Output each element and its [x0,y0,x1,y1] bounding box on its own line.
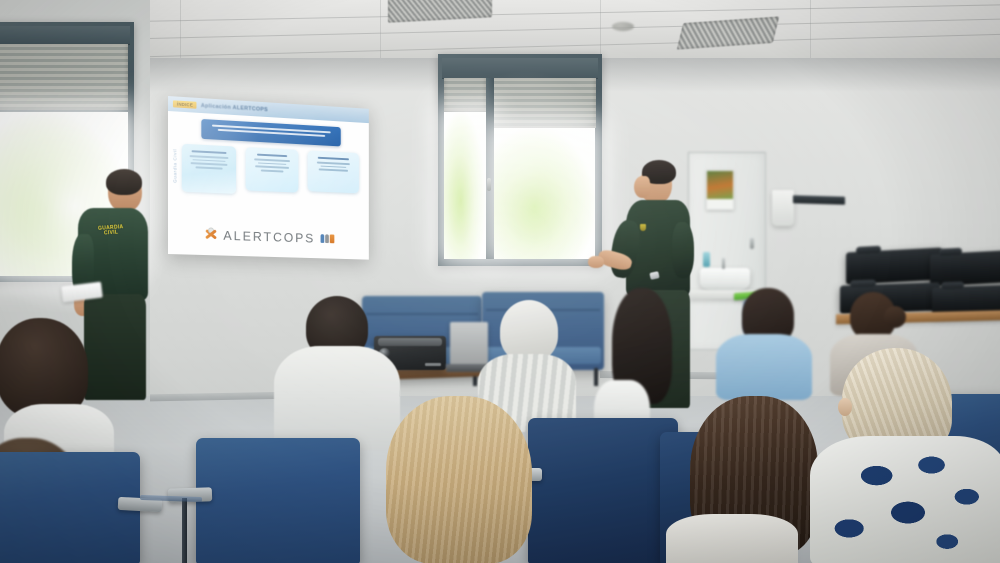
attendee-left-edge-hair [0,318,88,418]
stacked-cases-upper [846,247,942,284]
alertcops-logo-badge [321,234,335,243]
chair-front-left[interactable] [196,438,360,563]
slide-body: Guardia Civil [168,111,369,260]
chair-front-left-post [182,498,187,563]
officer-right-emblem [640,224,646,231]
attendee-floral-elderly-torso [810,436,1000,563]
slide-side-label-text: Guardia Civil [173,148,178,182]
window-center-glass-right [494,128,595,259]
slide-card-left [182,144,236,194]
attendee-blue-shirt [712,288,812,398]
slide-card-row [182,144,359,199]
attendee-floral-elderly [818,348,1000,563]
projection-screen: ÍNDICE Aplicación ALERTCOPS Guardia Civi… [168,96,369,260]
window-center-blinds-right [490,78,596,128]
crossed-swords-icon [205,226,218,243]
window-left-blinds [0,44,128,110]
slide-banner [201,119,340,146]
paper-towel-dispenser[interactable] [772,190,794,226]
presentation-photo-scene: ÍNDICE Aplicación ALERTCOPS Guardia Civi… [0,0,1000,563]
officer-right-arm-back [672,222,694,278]
officer-left-hair [106,169,142,195]
officer-right-face [634,176,650,198]
attendee-blonde-front-hair [386,396,532,563]
attendee-blue-shirt-torso [716,334,812,400]
door-handle[interactable] [750,238,754,249]
window-center-blind-box [442,58,598,79]
slide-title: Aplicación ALERTCOPS [201,103,268,113]
poster [706,170,734,210]
window-center [438,54,602,266]
slide-tag: ÍNDICE [173,100,197,108]
slide-card-right [308,150,359,193]
slide-content: ÍNDICE Aplicación ALERTCOPS Guardia Civi… [168,96,369,260]
slide-side-label: Guardia Civil [171,117,180,213]
wall-strip [793,195,845,204]
tap-icon[interactable] [722,258,725,269]
slide-card-center [246,147,299,193]
alertcops-logo-text: ALERTCOPS [223,227,315,245]
slide-logo-row: ALERTCOPS [168,221,369,251]
chair-center[interactable] [528,418,678,563]
officer-left-back-line2: CIVIL [104,230,119,237]
officer-right-pointing-hand [588,256,604,268]
attendee-floral-elderly-ear [838,398,852,416]
stacked-cases-upper-right [930,250,1000,287]
attendee-blonde-front [376,396,546,563]
window-center-handle[interactable] [487,178,491,191]
window-center-blinds-left [444,78,486,112]
smoke-detector-icon [612,22,634,31]
window-left-blind-box [0,26,130,45]
attendee-brunette-front-right-torso [666,514,798,563]
attendee-white-hair-center-hair [500,300,558,362]
attendee-bun-right-bun [884,306,906,328]
window-center-mullion [486,78,494,259]
window-center-glass-left [444,112,486,259]
